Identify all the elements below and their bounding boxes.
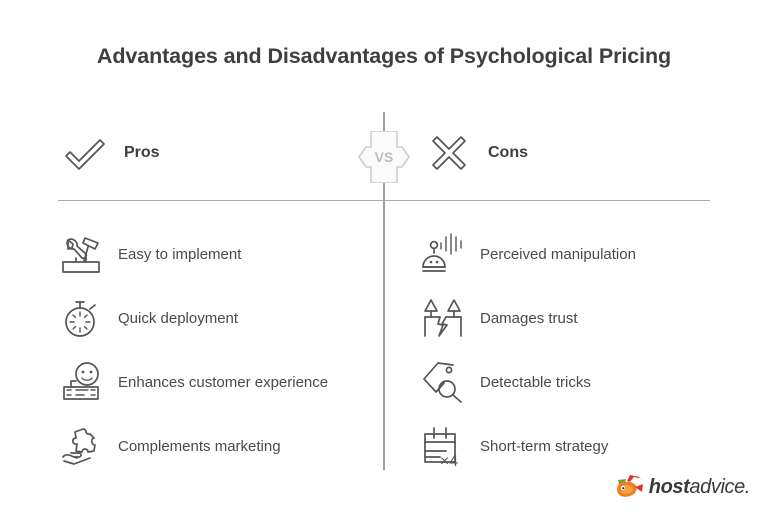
hostadvice-wordmark: hostadvice. (649, 476, 750, 499)
hostadvice-logo[interactable]: hostadvice. (614, 474, 750, 500)
happy-customer-icon (58, 359, 104, 405)
robot-broadcast-icon (420, 231, 466, 277)
pros-column: Easy to implement Quick deployment (58, 222, 388, 478)
logo-text-advice: advice. (689, 476, 750, 498)
cross-icon (424, 128, 474, 178)
list-item-label: Perceived manipulation (480, 245, 636, 264)
stopwatch-icon (58, 295, 104, 341)
logo-text-host: host (649, 476, 690, 498)
list-item-label: Short-term strategy (480, 437, 608, 456)
list-item-label: Complements marketing (118, 437, 281, 456)
toolbox-icon (58, 231, 104, 277)
pros-heading-group: Pros (60, 128, 160, 178)
list-item: Easy to implement (58, 222, 388, 286)
list-item-label: Detectable tricks (480, 373, 591, 392)
hostadvice-mascot-icon (614, 474, 644, 500)
cons-column: Perceived manipulation Damages trust Det (420, 222, 750, 478)
checkmark-icon (60, 128, 110, 178)
cons-heading-label: Cons (488, 144, 528, 162)
list-item: Damages trust (420, 286, 750, 350)
hand-puzzle-icon (58, 423, 104, 469)
list-item: Enhances customer experience (58, 350, 388, 414)
list-item: Detectable tricks (420, 350, 750, 414)
page-title: Advantages and Disadvantages of Psycholo… (0, 44, 768, 69)
vs-badge: VS (354, 131, 414, 183)
list-item-label: Easy to implement (118, 245, 241, 264)
price-tag-magnifier-icon (420, 359, 466, 405)
list-item-label: Quick deployment (118, 309, 238, 328)
svg-text:×4: ×4 (440, 453, 458, 469)
list-item: ×4 Short-term strategy (420, 414, 750, 478)
cons-heading-group: Cons (424, 128, 528, 178)
list-item: Complements marketing (58, 414, 388, 478)
vs-label: VS (375, 149, 394, 165)
list-item: Quick deployment (58, 286, 388, 350)
list-item-label: Damages trust (480, 309, 578, 328)
list-item: Perceived manipulation (420, 222, 750, 286)
broken-bridge-icon (420, 295, 466, 341)
list-item-label: Enhances customer experience (118, 373, 328, 392)
pros-heading-label: Pros (124, 144, 160, 162)
calendar-x4-icon: ×4 (420, 423, 466, 469)
